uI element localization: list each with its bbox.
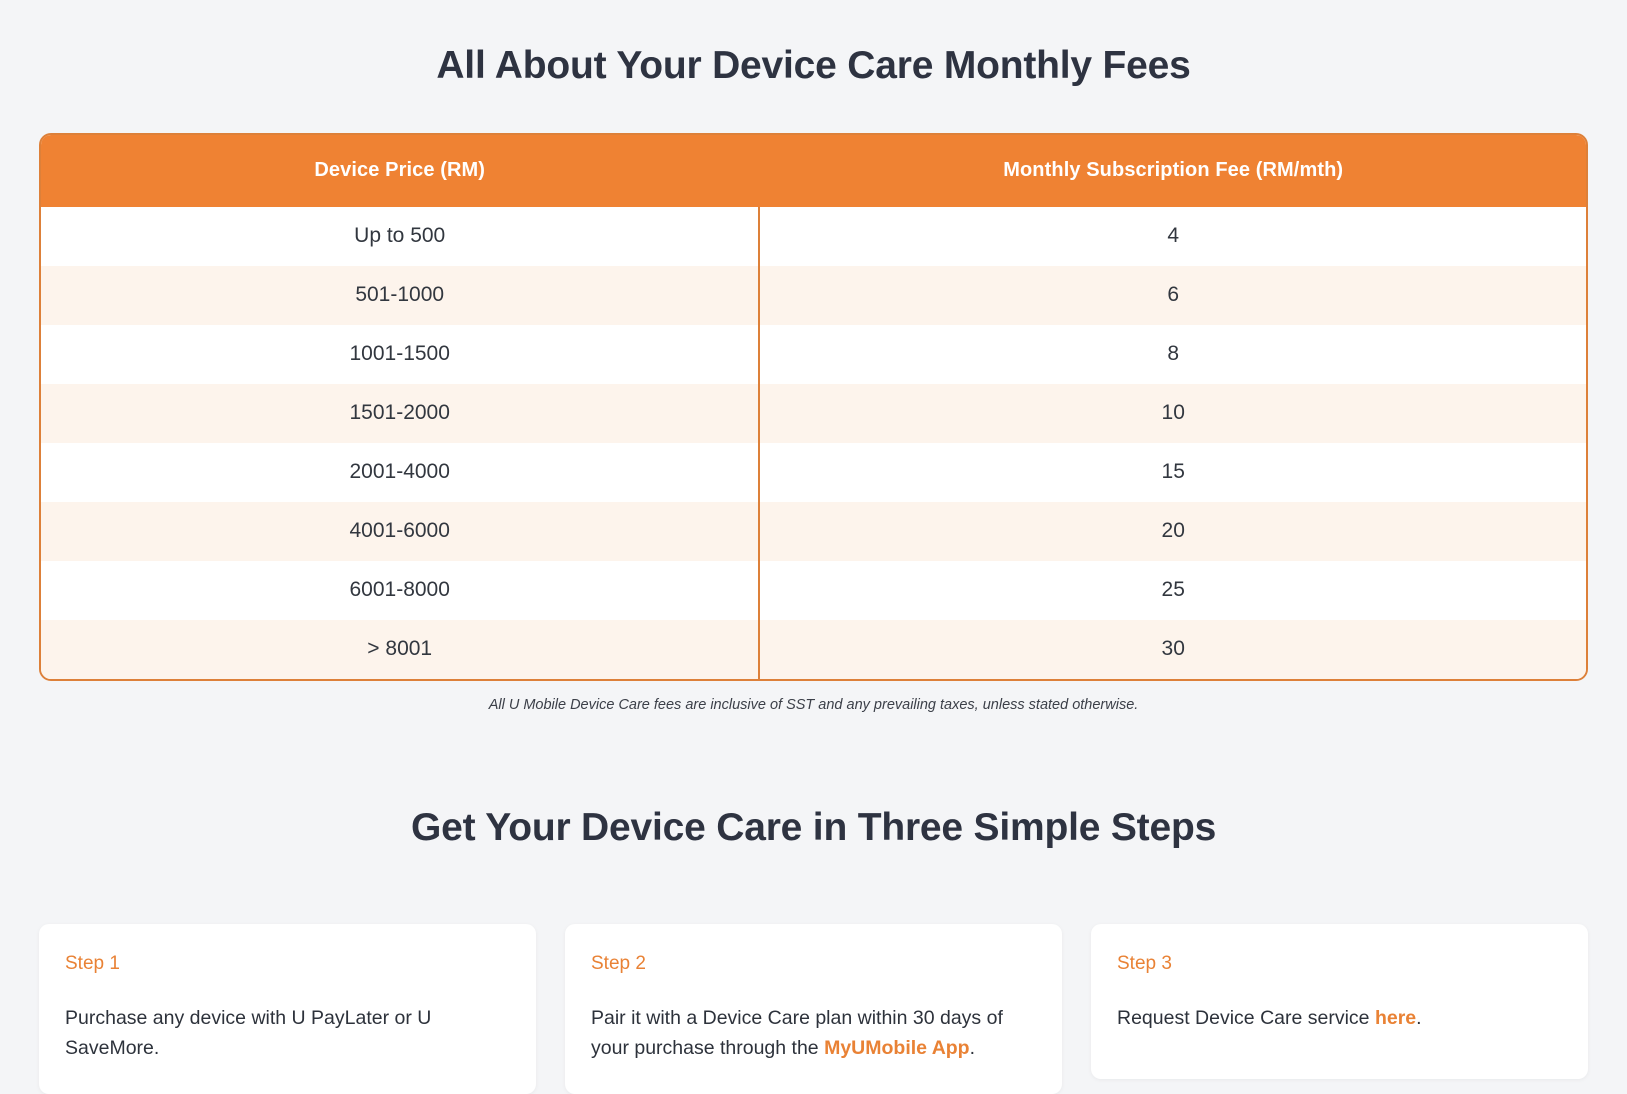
cell-monthly-fee: 6: [759, 266, 1586, 325]
step-link[interactable]: MyUMobile App: [824, 1037, 970, 1059]
table-row: 6001-800025: [41, 561, 1586, 620]
step-description: Request Device Care service here.: [1117, 1004, 1562, 1034]
step-link[interactable]: here: [1375, 1007, 1416, 1029]
step-description: Pair it with a Device Care plan within 3…: [591, 1004, 1036, 1064]
page-title-steps: Get Your Device Care in Three Simple Ste…: [0, 806, 1627, 850]
cell-monthly-fee: 30: [759, 620, 1586, 679]
cell-monthly-fee: 10: [759, 384, 1586, 443]
table-row: 1001-15008: [41, 325, 1586, 384]
cell-device-price: 1001-1500: [41, 325, 759, 384]
table-row: 1501-200010: [41, 384, 1586, 443]
fee-table-head: Device Price (RM) Monthly Subscription F…: [41, 135, 1586, 207]
step-description: Purchase any device with U PayLater or U…: [65, 1004, 510, 1064]
column-header-monthly-fee: Monthly Subscription Fee (RM/mth): [759, 135, 1586, 207]
step-text-lead: Request Device Care service: [1117, 1007, 1375, 1029]
step-label: Step 2: [591, 953, 1036, 975]
cell-monthly-fee: 20: [759, 502, 1586, 561]
step-label: Step 1: [65, 953, 510, 975]
cell-device-price: Up to 500: [41, 207, 759, 266]
step-card-1: Step 1Purchase any device with U PayLate…: [39, 924, 536, 1094]
cell-device-price: 1501-2000: [41, 384, 759, 443]
table-row: Up to 5004: [41, 207, 1586, 266]
fee-table: Device Price (RM) Monthly Subscription F…: [41, 135, 1586, 679]
cell-monthly-fee: 25: [759, 561, 1586, 620]
table-header-row: Device Price (RM) Monthly Subscription F…: [41, 135, 1586, 207]
fee-table-container: Device Price (RM) Monthly Subscription F…: [39, 133, 1588, 681]
step-text-trail: .: [1416, 1007, 1421, 1029]
step-text-lead: Purchase any device with U PayLater or U…: [65, 1007, 431, 1059]
cell-device-price: 4001-6000: [41, 502, 759, 561]
cell-device-price: > 8001: [41, 620, 759, 679]
table-row: > 800130: [41, 620, 1586, 679]
page-title-fees: All About Your Device Care Monthly Fees: [0, 0, 1627, 88]
cell-monthly-fee: 8: [759, 325, 1586, 384]
table-row: 4001-600020: [41, 502, 1586, 561]
cell-device-price: 2001-4000: [41, 443, 759, 502]
page-root: All About Your Device Care Monthly Fees …: [0, 0, 1627, 1094]
column-header-device-price: Device Price (RM): [41, 135, 759, 207]
step-card-3: Step 3Request Device Care service here.: [1091, 924, 1588, 1079]
step-card-2: Step 2Pair it with a Device Care plan wi…: [565, 924, 1062, 1094]
cell-device-price: 501-1000: [41, 266, 759, 325]
cell-device-price: 6001-8000: [41, 561, 759, 620]
steps-card-row: Step 1Purchase any device with U PayLate…: [39, 924, 1588, 1094]
fee-table-body: Up to 5004501-100061001-150081501-200010…: [41, 207, 1586, 679]
table-row: 501-10006: [41, 266, 1586, 325]
cell-monthly-fee: 15: [759, 443, 1586, 502]
table-row: 2001-400015: [41, 443, 1586, 502]
fee-table-footnote: All U Mobile Device Care fees are inclus…: [0, 697, 1627, 713]
step-label: Step 3: [1117, 953, 1562, 975]
step-text-trail: .: [970, 1037, 975, 1059]
cell-monthly-fee: 4: [759, 207, 1586, 266]
